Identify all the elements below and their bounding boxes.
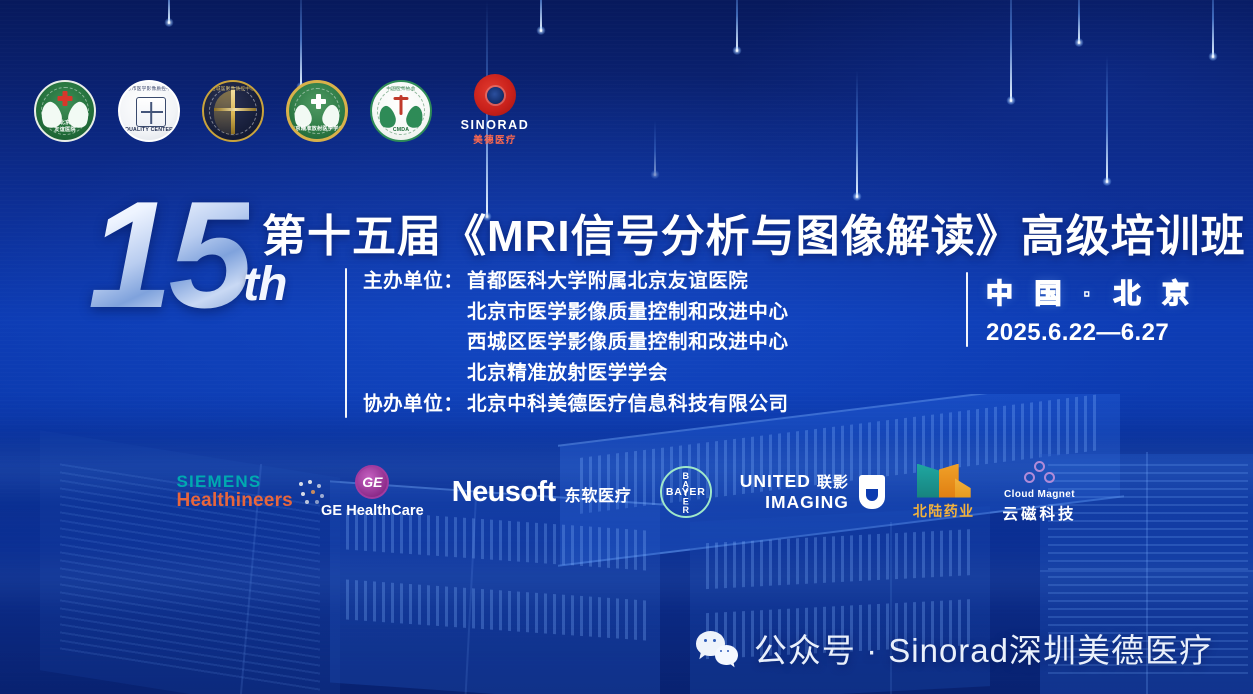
- neusoft-chinese-name: 东软医疗: [565, 482, 632, 506]
- badge-dark-gold-emblem: 西城区影像质控中心: [202, 80, 264, 142]
- sponsor-cloud-magnet: Cloud Magnet 云磁科技: [1003, 461, 1077, 524]
- badge-label: CMDA: [372, 127, 430, 133]
- wechat-icon: [696, 631, 738, 665]
- cloud-magnet-chinese-name: 云磁科技: [1003, 502, 1077, 524]
- sinorad-logo: SINORAD 美德医疗: [456, 76, 534, 146]
- sponsor-ge-healthcare: GE GE HealthCare: [321, 465, 424, 519]
- organizer-divider: [345, 268, 347, 418]
- event-date: 2025.6.22—6.27: [986, 319, 1196, 347]
- host-item-1: 北京市医学影像质量控制和改进中心: [363, 299, 789, 327]
- beilu-mountain-icon: [917, 464, 971, 498]
- emblem-mark-icon: [136, 97, 166, 127]
- neusoft-wordmark: Neusoft: [452, 476, 556, 509]
- location-date-block: 中 国 · 北 京 2025.6.22—6.27: [966, 272, 1196, 347]
- red-cross-icon: [58, 91, 73, 106]
- badge-arc-label: 北京市医学影像质控中心: [120, 86, 178, 92]
- sinorad-wordmark: SINORAD: [456, 118, 534, 132]
- badge-label: 北京精准放射医学学会: [289, 126, 345, 132]
- badge-arc-label: 中国医师协会: [372, 86, 430, 92]
- cloud-magnet-wordmark: Cloud Magnet: [1004, 489, 1075, 500]
- edition-suffix: th: [243, 257, 286, 312]
- coorganizer-label: 协办单位：: [363, 391, 467, 419]
- coorganizer-value: 北京中科美德医疗信息科技有限公司: [467, 391, 789, 419]
- sinorad-eye-icon: [474, 74, 516, 116]
- host-item-2: 西城区医学影像质量控制和改进中心: [363, 329, 789, 357]
- page-title: 第十五届《MRI信号分析与图像解读》高级培训班: [262, 200, 1246, 264]
- badge-arc-label: 西城区影像质控中心: [204, 86, 262, 92]
- beilu-chinese-name: 北陆药业: [913, 501, 975, 521]
- organizer-block: 主办单位： 首都医科大学附属北京友谊医院 北京市医学影像质量控制和改进中心 西城…: [345, 268, 789, 418]
- sponsor-neusoft: Neusoft 东软医疗: [452, 476, 632, 509]
- host-item-0: 首都医科大学附属北京友谊医院: [467, 268, 748, 296]
- badge-green-caduceus: 中国医师协会 CMDA: [370, 80, 432, 142]
- location-divider: [966, 272, 968, 347]
- host-label: 主办单位：: [363, 268, 467, 296]
- siemens-dots-icon: [297, 480, 327, 506]
- ge-monogram-icon: GE: [355, 465, 389, 499]
- badge-white-emblem: 北京市医学影像质控中心 QUALITY CENTER: [118, 80, 180, 142]
- sponsor-united-imaging: UNITED 联影 IMAGING: [740, 471, 885, 513]
- edition-number: 15: [88, 186, 249, 326]
- badge-label: 北京友谊医院: [36, 120, 94, 133]
- sponsor-beilu-pharma: 北陆药业: [913, 464, 975, 521]
- sponsor-bayer: BAYER BAYER: [660, 466, 712, 518]
- white-cross-icon: [311, 94, 323, 106]
- sinorad-chinese-name: 美德医疗: [456, 132, 534, 146]
- sponsor-logo-row: SIEMENS Healthineers GE GE HealthCare Ne…: [0, 452, 1253, 532]
- wechat-official-account-bar: 公众号 · Sinorad深圳美德医疗: [696, 624, 1213, 672]
- partner-emblem-row: 北京友谊医院 北京市医学影像质控中心 QUALITY CENTER 西城区影像质…: [34, 76, 534, 146]
- event-location: 中 国 · 北 京: [986, 272, 1196, 311]
- coorganizer-row: 协办单位： 北京中科美德医疗信息科技有限公司: [363, 391, 789, 419]
- imaging-wordmark: IMAGING: [765, 492, 849, 513]
- badge-label: QUALITY CENTER: [120, 127, 178, 133]
- badge-beijing-friendship-hospital: 北京友谊医院: [34, 80, 96, 142]
- emblem-beam-icon: [231, 90, 235, 134]
- bayer-vertical-wordmark: BAYER: [682, 471, 690, 514]
- healthineers-wordmark: Healthineers: [176, 490, 292, 512]
- host-row: 主办单位： 首都医科大学附属北京友谊医院: [363, 268, 789, 296]
- emblem-crossbeam-icon: [214, 108, 256, 111]
- cloud-magnet-molecule-icon: [1022, 461, 1058, 487]
- bayer-cross-icon: BAYER BAYER: [660, 466, 712, 518]
- sponsor-siemens-healthineers: SIEMENS Healthineers: [176, 472, 292, 512]
- ge-healthcare-wordmark: GE HealthCare: [321, 503, 424, 519]
- wechat-account-label: 公众号 · Sinorad深圳美德医疗: [754, 624, 1213, 672]
- host-item-3: 北京精准放射医学学会: [363, 360, 789, 388]
- badge-gold-ring-green: 北京精准放射医学学会: [286, 80, 348, 142]
- poster-canvas: 北京友谊医院 北京市医学影像质控中心 QUALITY CENTER 西城区影像质…: [0, 0, 1253, 694]
- edition-number-block: 15 th: [88, 186, 286, 326]
- united-imaging-shield-icon: [859, 475, 885, 509]
- united-chinese-name: 联影: [817, 471, 849, 492]
- united-wordmark: UNITED: [740, 471, 811, 492]
- siemens-wordmark: SIEMENS: [176, 472, 261, 492]
- caduceus-icon: [400, 95, 403, 115]
